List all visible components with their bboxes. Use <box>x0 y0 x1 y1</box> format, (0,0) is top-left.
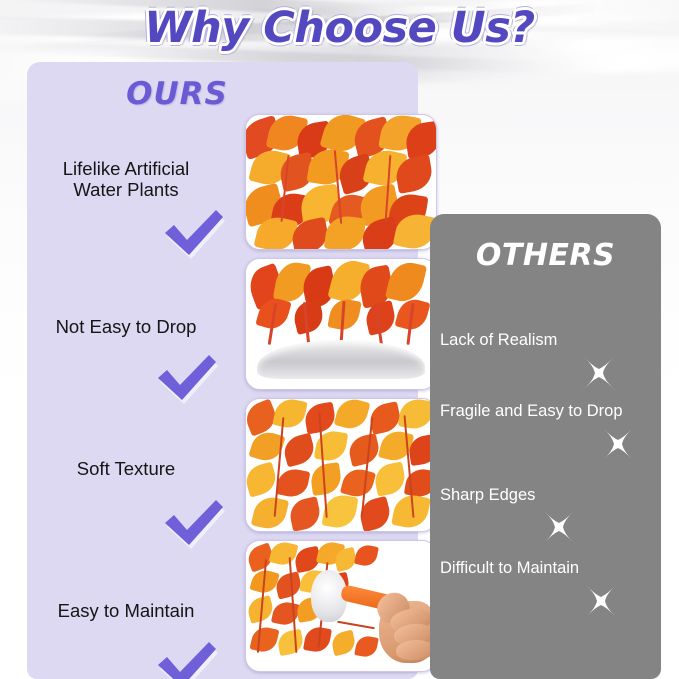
check-mark-icon-3 <box>162 497 226 549</box>
cross-mark-icon-4 <box>580 580 622 622</box>
others-panel: OTHERS Lack of Realism Fragile and Easy … <box>430 214 661 679</box>
ours-photo-2 <box>245 258 437 390</box>
ours-heading: OURS <box>27 76 327 112</box>
check-mark-icon-2 <box>155 352 219 404</box>
others-label-4: Difficult to Maintain <box>440 559 655 578</box>
ours-label-2: Not Easy to Drop <box>35 316 217 337</box>
others-label-2: Fragile and Easy to Drop <box>440 402 655 421</box>
others-label-3: Sharp Edges <box>440 486 655 505</box>
check-mark-icon-4 <box>155 639 219 679</box>
ours-label-4: Easy to Maintain <box>35 600 217 621</box>
ours-label-3: Soft Texture <box>35 458 217 479</box>
cross-mark-icon-2 <box>597 423 639 465</box>
cross-mark-icon-3 <box>538 506 580 548</box>
page-title: Why Choose Us? <box>0 3 679 53</box>
cross-mark-icon-1 <box>578 352 620 394</box>
check-mark-icon-1 <box>162 207 226 259</box>
ours-photo-3 <box>245 398 437 532</box>
others-label-1: Lack of Realism <box>440 331 655 350</box>
ours-photo-4 <box>245 540 437 672</box>
ours-panel: OURS Lifelike Artificial Water Plants <box>27 62 418 679</box>
ours-label-1: Lifelike Artificial Water Plants <box>35 158 217 201</box>
comparison-infographic: Why Choose Us? OURS Lifelike Artificial … <box>0 0 679 679</box>
ours-photo-1 <box>245 114 437 250</box>
others-heading: OTHERS <box>430 238 661 273</box>
